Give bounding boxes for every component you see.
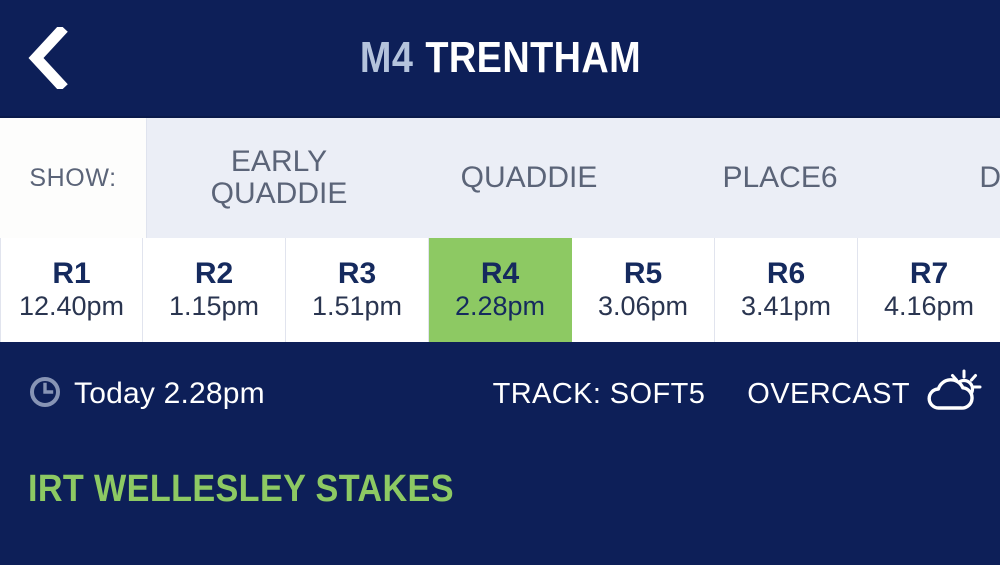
sun-behind-cloud-icon (926, 369, 982, 420)
show-option-place6[interactable]: PLACE6 (647, 162, 913, 194)
race-start-time: Today 2.28pm (74, 377, 265, 411)
back-button[interactable] (14, 25, 80, 91)
show-option-double[interactable]: DOUBLE (913, 162, 1000, 194)
weather-group: OVERCAST (747, 369, 982, 420)
race-tab-r6[interactable]: R6 3.41pm (715, 238, 858, 342)
show-option-quaddie[interactable]: QUADDIE (411, 162, 647, 194)
race-name-section: IRT WELLESLEY STAKES (0, 446, 1000, 511)
race-tab-time: 4.16pm (884, 291, 974, 322)
race-tab-number: R7 (910, 258, 948, 290)
show-options-list: EARLY QUADDIE QUADDIE PLACE6 DOUBLE (147, 118, 1000, 238)
race-tab-time: 1.15pm (169, 291, 259, 322)
race-meeting-screen: M4 TRENTHAM SHOW: EARLY QUADDIE QUADDIE … (0, 0, 1000, 565)
race-time-group: Today 2.28pm (28, 375, 265, 414)
race-tab-r7[interactable]: R7 4.16pm (858, 238, 1000, 342)
track-weather-group: TRACK: SOFT5 OVERCAST (493, 369, 982, 420)
race-tab-number: R5 (624, 258, 662, 290)
race-name: IRT WELLESLEY STAKES (28, 468, 454, 511)
track-condition: TRACK: SOFT5 (493, 378, 706, 411)
race-tab-number: R6 (767, 258, 805, 290)
race-tab-r3[interactable]: R3 1.51pm (286, 238, 429, 342)
race-tab-number: R4 (481, 258, 519, 290)
show-label: SHOW: (29, 164, 116, 193)
clock-icon (28, 375, 62, 414)
weather-condition: OVERCAST (747, 378, 910, 411)
race-tabs-row: R1 12.40pm R2 1.15pm R3 1.51pm R4 2.28pm… (0, 238, 1000, 342)
meeting-code: M4 (359, 33, 412, 83)
show-bet-type-row: SHOW: EARLY QUADDIE QUADDIE PLACE6 DOUBL… (0, 116, 1000, 238)
race-tab-r1[interactable]: R1 12.40pm (0, 238, 143, 342)
race-tab-time: 2.28pm (455, 291, 545, 322)
race-tabs-list: R1 12.40pm R2 1.15pm R3 1.51pm R4 2.28pm… (0, 238, 1000, 342)
chevron-left-icon (26, 27, 68, 89)
page-title: M4 TRENTHAM (359, 33, 640, 83)
race-tab-r2[interactable]: R2 1.15pm (143, 238, 286, 342)
race-tab-r4[interactable]: R4 2.28pm (429, 238, 572, 342)
race-tab-time: 3.06pm (598, 291, 688, 322)
show-label-cell: SHOW: (0, 118, 147, 238)
race-tab-time: 3.41pm (741, 291, 831, 322)
race-tab-number: R2 (195, 258, 233, 290)
race-tab-number: R3 (338, 258, 376, 290)
race-tab-r5[interactable]: R5 3.06pm (572, 238, 715, 342)
race-info-row: Today 2.28pm TRACK: SOFT5 OVERCAST (0, 342, 1000, 446)
race-tab-time: 1.51pm (312, 291, 402, 322)
race-tab-number: R1 (52, 258, 90, 290)
show-option-early-quaddie[interactable]: EARLY QUADDIE (147, 146, 411, 211)
venue-name: TRENTHAM (425, 33, 641, 83)
race-tab-time: 12.40pm (19, 291, 124, 322)
app-header: M4 TRENTHAM (0, 0, 1000, 116)
